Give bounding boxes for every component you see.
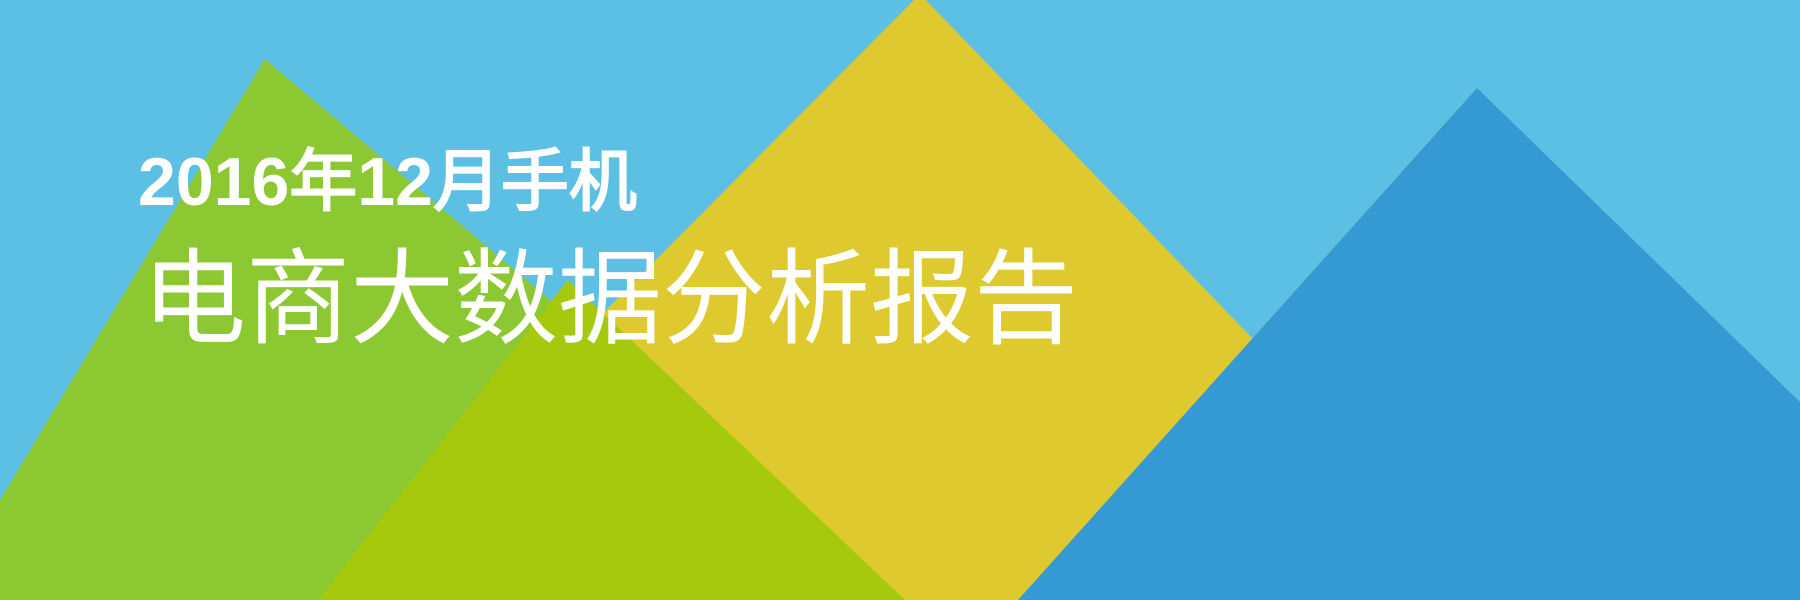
geometric-background-artwork: [0, 0, 1800, 600]
report-cover-slide: 2016年12月手机 电商大数据分析报告: [0, 0, 1800, 600]
